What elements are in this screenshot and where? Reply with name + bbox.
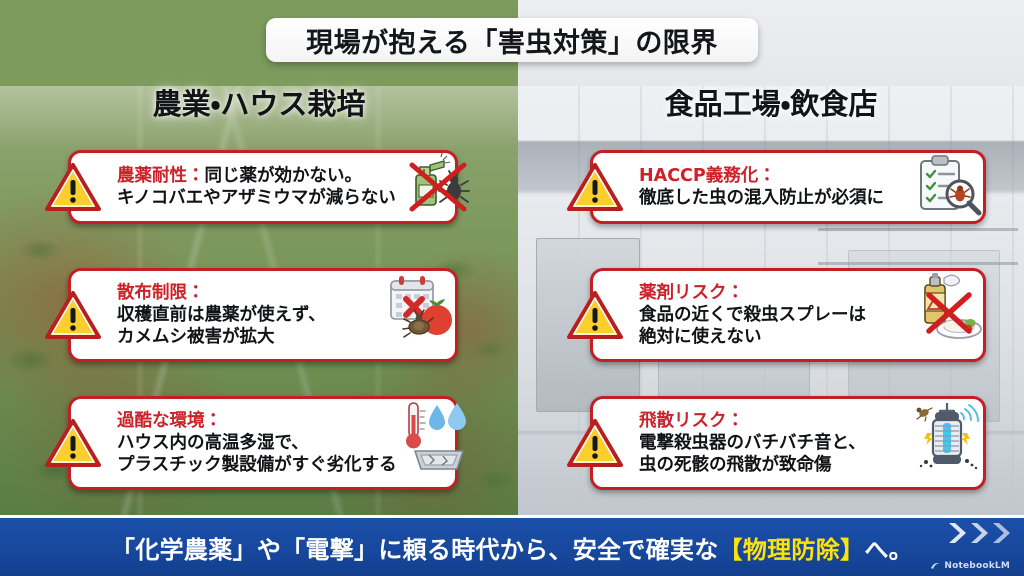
slide-title-pill: 現場が抱える「害虫対策」の限界 xyxy=(266,18,758,62)
card-body-line: 虫の死骸の飛散が致命傷 xyxy=(639,454,907,476)
card-pesticide-resistance[interactable]: 農薬耐性：同じ薬が効かない。 キノコバエやアザミウマが減らない xyxy=(68,150,458,224)
card-body-line: 食品の近くで殺虫スプレーは xyxy=(639,304,907,326)
card-harsh-environment-text: 過酷な環境： ハウス内の高温多湿で、 プラスチック製設備がすぐ劣化する xyxy=(71,404,401,483)
card-heading: HACCP義務化： xyxy=(639,166,776,186)
card-chemical-risk-headline: 薬剤リスク： xyxy=(639,282,907,304)
card-body-line: 徹底した虫の混入防止が必須に xyxy=(639,187,907,209)
thermometer-humidity-tray-icon xyxy=(401,399,473,487)
warning-triangle-icon xyxy=(45,162,101,212)
card-pesticide-resistance-headline: 農薬耐性：同じ薬が効かない。 xyxy=(117,165,396,187)
card-scattering-risk-text: 飛散リスク： 電撃殺虫器のバチバチ音と、 虫の死骸の飛散が致命傷 xyxy=(593,404,911,483)
card-heading: 飛散リスク： xyxy=(639,411,744,431)
card-haccp-obligation-headline: HACCP義務化： xyxy=(639,165,907,187)
card-body-line: 収穫直前は農薬が使えず、 xyxy=(117,304,379,326)
calendar-x-tomato-stinkbug-icon xyxy=(383,271,455,359)
card-heading: 農薬耐性： xyxy=(117,166,205,186)
notebooklm-watermark-label: NotebookLM xyxy=(944,561,1010,571)
spray-bottle-bug-crossed-icon xyxy=(400,153,472,221)
kitchen-wall-shelf-2 xyxy=(818,262,1018,265)
footer-banner: 「化学農薬」や「電撃」に頼る時代から、安全で確実な【物理防除】へ。 Notebo… xyxy=(0,515,1024,576)
column-heading-food-factory: 食品工場・飲食店 xyxy=(518,82,1024,122)
kitchen-wall-shelf xyxy=(818,228,1018,231)
page-title: 現場が抱える「害虫対策」の限界 xyxy=(306,21,718,60)
column-heading-food-factory-label: 食品工場・飲食店 xyxy=(665,81,878,123)
card-scattering-risk-headline: 飛散リスク： xyxy=(639,410,907,432)
double-chevron-right-icon xyxy=(946,520,1012,546)
footer-highlight: 【物理防除】 xyxy=(719,536,865,564)
card-haccp-obligation[interactable]: HACCP義務化： 徹底した虫の混入防止が必須に xyxy=(590,150,986,224)
card-body-line: キノコバエやアザミウマが減らない xyxy=(117,187,396,209)
card-heading: 薬剤リスク： xyxy=(639,283,744,303)
warning-triangle-icon xyxy=(567,162,623,212)
aerosol-food-plate-crossed-icon xyxy=(911,271,983,359)
warning-triangle-icon xyxy=(45,418,101,468)
column-heading-agriculture: 農業・ハウス栽培 xyxy=(0,82,518,122)
clipboard-checklist-magnifier-bug-icon xyxy=(911,153,983,221)
card-heading: 散布制限： xyxy=(117,283,205,303)
card-scattering-risk[interactable]: 飛散リスク： 電撃殺虫器のバチバチ音と、 虫の死骸の飛散が致命傷 xyxy=(590,396,986,490)
card-spraying-restriction[interactable]: 散布制限： 収穫直前は農薬が使えず、 カメムシ被害が拡大 xyxy=(68,268,458,362)
warning-triangle-icon xyxy=(45,290,101,340)
card-spraying-restriction-headline: 散布制限： xyxy=(117,282,379,304)
card-heading: 過酷な環境： xyxy=(117,411,222,431)
card-harsh-environment-headline: 過酷な環境： xyxy=(117,410,397,432)
card-heading-rest: 同じ薬が効かない。 xyxy=(205,166,363,186)
warning-triangle-icon xyxy=(567,418,623,468)
card-chemical-risk-text: 薬剤リスク： 食品の近くで殺虫スプレーは 絶対に使えない xyxy=(593,276,911,355)
card-pesticide-resistance-text: 農薬耐性：同じ薬が効かない。 キノコバエやアザミウマが減らない xyxy=(71,159,400,215)
warning-triangle-icon xyxy=(567,290,623,340)
card-body-line: カメムシ被害が拡大 xyxy=(117,326,379,348)
slide-canvas: 現場が抱える「害虫対策」の限界 農業・ハウス栽培 食品工場・飲食店 農薬耐性：同… xyxy=(0,0,1024,576)
card-spraying-restriction-text: 散布制限： 収穫直前は農薬が使えず、 カメムシ被害が拡大 xyxy=(71,276,383,355)
column-heading-agriculture-label: 農業・ハウス栽培 xyxy=(153,81,366,123)
notebooklm-watermark: NotebookLM xyxy=(930,561,1010,571)
card-body-line: 電撃殺虫器のバチバチ音と、 xyxy=(639,432,907,454)
card-harsh-environment[interactable]: 過酷な環境： ハウス内の高温多湿で、 プラスチック製設備がすぐ劣化する xyxy=(68,396,458,490)
bug-zapper-icon xyxy=(911,399,983,487)
footer-text-before: 「化学農薬」や「電撃」に頼る時代から、安全で確実な xyxy=(111,536,719,564)
card-haccp-obligation-text: HACCP義務化： 徹底した虫の混入防止が必須に xyxy=(593,159,911,215)
card-body-line: ハウス内の高温多湿で、 xyxy=(117,432,397,454)
notebooklm-logo-icon xyxy=(930,561,940,571)
footer-text-after: へ。 xyxy=(864,536,913,564)
footer-message: 「化学農薬」や「電撃」に頼る時代から、安全で確実な【物理防除】へ。 xyxy=(111,530,913,565)
card-chemical-risk[interactable]: 薬剤リスク： 食品の近くで殺虫スプレーは 絶対に使えない xyxy=(590,268,986,362)
card-body-line: 絶対に使えない xyxy=(639,326,907,348)
card-body-line: プラスチック製設備がすぐ劣化する xyxy=(117,454,397,476)
